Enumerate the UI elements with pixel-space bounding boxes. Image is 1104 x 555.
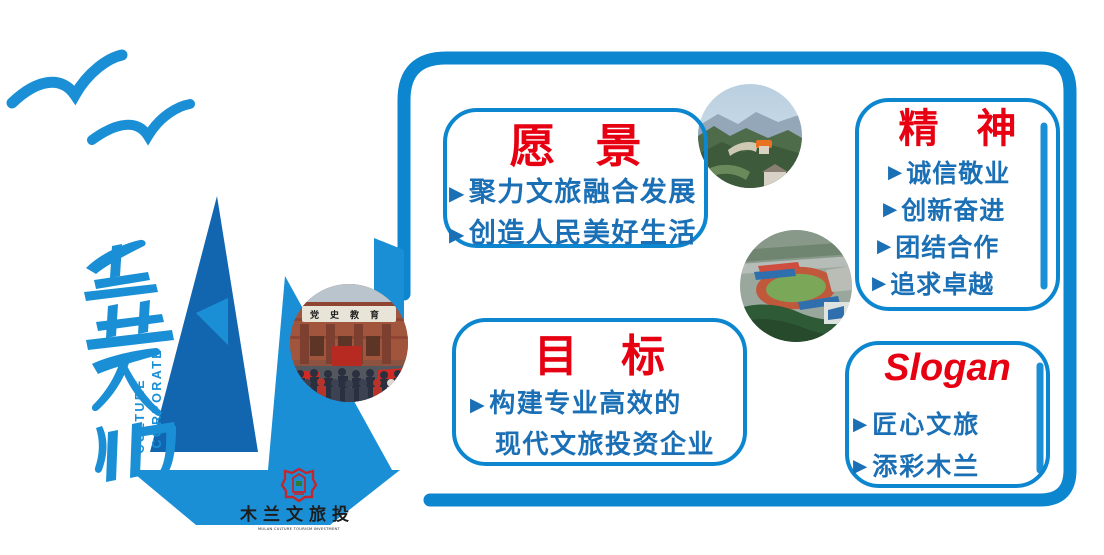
card-spirit-title: 精 神: [855, 96, 1060, 154]
list-item-label: 添彩木兰: [872, 446, 980, 488]
triangle-bullet-icon: ▶: [872, 275, 887, 294]
list-item: ▶ 追求卓越: [872, 266, 1010, 303]
svg-text:投: 投: [332, 504, 349, 525]
heading-en-corporate: CORPORATE: [150, 348, 164, 449]
triangle-bullet-icon: ▶: [883, 201, 898, 220]
svg-text:木: 木: [239, 504, 258, 525]
logo-emblem-icon: [282, 469, 316, 501]
triangle-bullet-icon: ▶: [853, 416, 869, 435]
card-goal-body: ▶ 构建专业高效的 现代文旅投资企业: [470, 384, 715, 466]
list-item: ▶ 团结合作: [872, 229, 1010, 266]
svg-text:教: 教: [349, 309, 360, 321]
corporate-culture-poster: CORPORATE CULTURE: [0, 0, 1104, 555]
list-item: ▶ 匠心文旅: [853, 404, 980, 446]
list-item: ▶ 创新奋进: [872, 192, 1010, 229]
triangle-bullet-icon: ▶: [853, 458, 869, 477]
list-item-label: 诚信敬业: [906, 155, 1010, 192]
list-item: 现代文旅投资企业: [470, 425, 715, 466]
triangle-bullet-icon: ▶: [470, 395, 486, 414]
left-wedge-accent: [196, 298, 228, 345]
photo-group-party-history-hall: 党 史 教 育: [290, 284, 408, 402]
list-item-label: 现代文旅投资企业: [495, 425, 715, 466]
triangle-bullet-icon: ▶: [449, 224, 466, 244]
photo-mountain-scenic-area: [698, 84, 802, 188]
list-item: ▶ 聚力文旅融合发展: [449, 172, 697, 213]
triangle-bullet-icon: ▶: [888, 164, 903, 183]
svg-text:育: 育: [370, 309, 379, 321]
list-item: ▶ 构建专业高效的: [470, 384, 715, 425]
list-item-label: 匠心文旅: [872, 404, 980, 446]
list-item-label: 追求卓越: [890, 266, 994, 303]
logo-subtitle: MULAN CULTURE TOURISM INVESTMENT: [258, 527, 341, 531]
list-item-label: 聚力文旅融合发展: [469, 172, 697, 213]
seagull-icon-1: [12, 55, 122, 103]
heading-en-culture: CULTURE: [133, 378, 147, 454]
list-item-label: 创造人民美好生活: [469, 213, 697, 254]
list-item: ▶ 诚信敬业: [872, 155, 1010, 192]
card-spirit-body: ▶ 诚信敬业 ▶ 创新奋进 ▶ 团结合作 ▶ 追求卓越: [872, 155, 1010, 303]
list-item: ▶ 创造人民美好生活: [449, 213, 697, 254]
svg-text:史: 史: [330, 309, 340, 321]
card-slogan-title: Slogan: [845, 347, 1050, 390]
card-vision-body: ▶ 聚力文旅融合发展 ▶ 创造人民美好生活: [449, 172, 697, 254]
company-logo: 木 兰 文 旅 投 MULAN CULTURE TOURISM INVESTME…: [238, 468, 360, 534]
card-vision-title: 愿 景: [443, 110, 708, 176]
svg-text:党: 党: [310, 309, 319, 321]
svg-text:旅: 旅: [309, 504, 326, 525]
triangle-bullet-icon: ▶: [877, 238, 892, 257]
list-item-label: 创新奋进: [901, 192, 1005, 229]
triangle-bullet-icon: ▶: [449, 183, 466, 203]
list-item: ▶ 添彩木兰: [853, 446, 980, 488]
card-goal-title: 目 标: [452, 320, 747, 384]
list-item-label: 构建专业高效的: [489, 384, 682, 425]
photo-aerial-stadium: [740, 230, 852, 342]
card-slogan-body: ▶ 匠心文旅 ▶ 添彩木兰: [853, 404, 980, 488]
svg-text:兰: 兰: [263, 504, 280, 525]
seagull-icon-2: [92, 104, 190, 140]
list-item-label: 团结合作: [895, 229, 999, 266]
svg-text:文: 文: [286, 504, 304, 525]
